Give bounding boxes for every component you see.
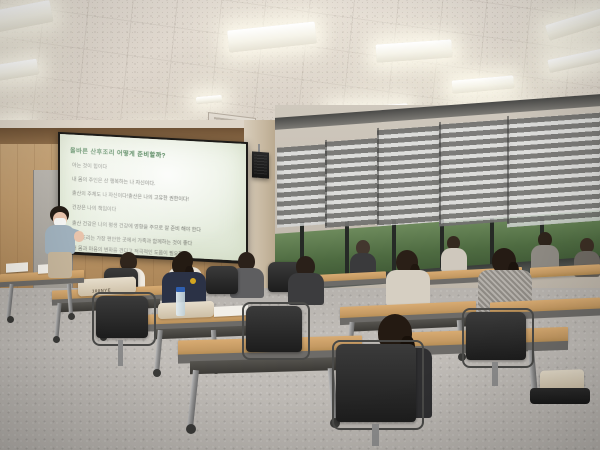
window-blind[interactable] (507, 113, 600, 228)
attendee-body (386, 270, 430, 306)
window-blind[interactable] (325, 138, 377, 228)
desk-caster (53, 336, 60, 343)
window-blind[interactable] (377, 126, 439, 227)
projection-screen: 올바른 산후조리 어떻게 준비할까? 아는 것이 힘이다 내 몸의 주인은 산 … (60, 134, 246, 261)
speaker-grill (254, 155, 267, 175)
chair-frame (242, 302, 310, 360)
bottle-cap (176, 287, 185, 292)
badge-icon (190, 278, 196, 284)
chair-post (118, 340, 123, 366)
chair-post (372, 424, 379, 446)
chair[interactable] (206, 266, 238, 294)
window-blind[interactable] (277, 144, 325, 228)
window-blind[interactable] (439, 120, 507, 227)
classroom-photo: 올바른 산후조리 어떻게 준비할까? 아는 것이 힘이다 내 몸의 주인은 산 … (0, 0, 600, 450)
attendee-body (441, 248, 467, 272)
chair-seat (530, 388, 590, 404)
blind-divider (439, 122, 441, 224)
blind-divider (507, 116, 509, 224)
presenter-hands (74, 231, 84, 242)
blind-divider (325, 140, 327, 226)
chair-frame (462, 308, 534, 368)
tote-bag-icon (158, 301, 214, 319)
bottle-icon (176, 290, 185, 316)
attendee-body (288, 273, 324, 305)
chair-frame (332, 340, 424, 430)
desk-caster (7, 316, 14, 323)
desk-caster (68, 313, 75, 320)
chair-post (492, 362, 498, 386)
desk-caster (153, 369, 161, 377)
desk-caster (186, 424, 196, 434)
window-mullion (392, 220, 396, 276)
blind-divider (377, 128, 379, 224)
chair-frame (92, 292, 156, 346)
handout-paper (6, 262, 28, 273)
window-mullion (345, 221, 349, 276)
presenter-pants (48, 252, 72, 278)
